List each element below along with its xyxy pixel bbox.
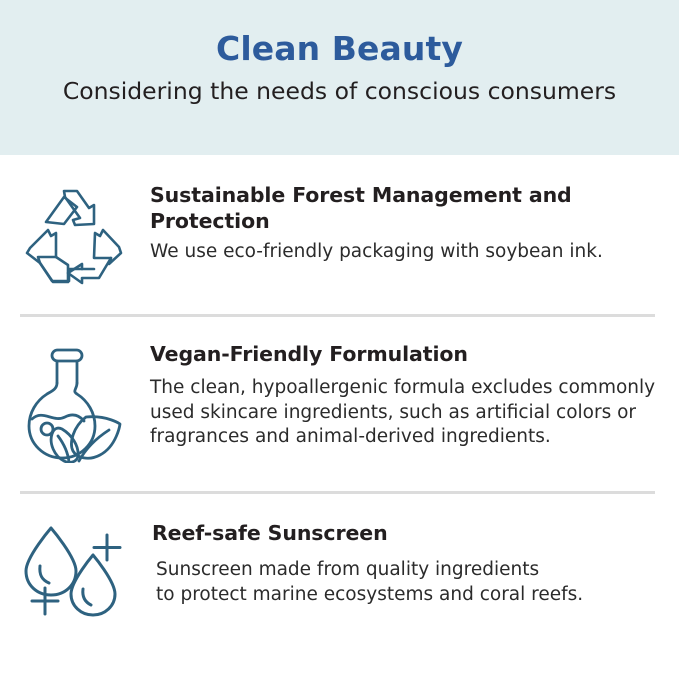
feature-text-wrapper: Reef-safe Sunscreen Sunscreen made from … [150, 520, 679, 607]
recycle-icon [24, 186, 126, 286]
feature-title: Sustainable Forest Management and Protec… [150, 182, 663, 234]
feature-item-sustainable-forest: Sustainable Forest Management and Protec… [0, 155, 679, 286]
feature-icon-wrapper [0, 341, 150, 463]
header-banner: Clean Beauty Considering the needs of co… [0, 0, 679, 155]
feature-item-vegan-friendly: Vegan-Friendly Formulation The clean, hy… [0, 317, 679, 463]
flask-leaves-icon [23, 345, 127, 463]
feature-item-reef-safe-sunscreen: Reef-safe Sunscreen Sunscreen made from … [0, 494, 679, 622]
feature-title: Reef-safe Sunscreen [152, 520, 663, 546]
feature-body: We use eco-friendly packaging with soybe… [150, 240, 663, 265]
feature-body: Sunscreen made from quality ingredients … [156, 558, 663, 607]
feature-icon-wrapper [0, 182, 150, 286]
feature-list: Sustainable Forest Management and Protec… [0, 155, 679, 622]
page-title: Clean Beauty [216, 28, 463, 69]
clean-beauty-infographic: Clean Beauty Considering the needs of co… [0, 0, 679, 679]
water-drops-plus-icon [23, 526, 127, 622]
page-subtitle: Considering the needs of conscious consu… [63, 76, 616, 107]
feature-text-wrapper: Sustainable Forest Management and Protec… [150, 182, 679, 265]
feature-text-wrapper: Vegan-Friendly Formulation The clean, hy… [150, 341, 679, 450]
feature-icon-wrapper [0, 520, 150, 622]
feature-title: Vegan-Friendly Formulation [150, 341, 663, 367]
feature-body: The clean, hypoallergenic formula exclud… [150, 376, 663, 450]
